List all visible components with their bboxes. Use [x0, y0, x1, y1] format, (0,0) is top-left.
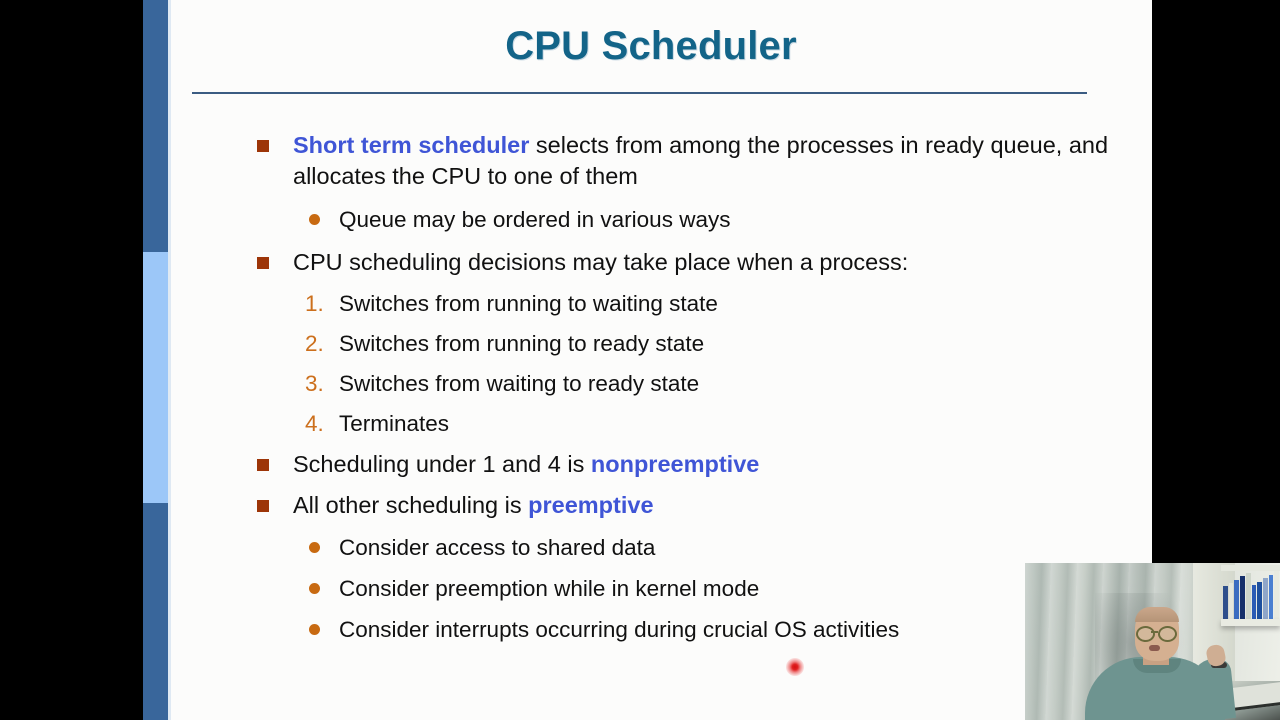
subbullet-kernel-mode: Consider preemption while in kernel mode: [143, 574, 1152, 603]
bullet-body-text: All other scheduling is: [293, 492, 528, 518]
webcam-book: [1240, 576, 1245, 619]
bullet-preemptive: All other scheduling is preemptive: [143, 490, 1152, 521]
subbullet-text: Consider interrupts occurring during cru…: [339, 617, 899, 642]
presenter-video-feed[interactable]: [1025, 563, 1280, 720]
list-number: 1.: [305, 289, 331, 318]
webcam-book: [1269, 575, 1274, 619]
square-bullet-icon: [257, 459, 269, 471]
webcam-glasses-bridge: [1151, 631, 1158, 633]
letterbox-bar-left: [0, 0, 143, 720]
video-player-frame: CPU Scheduler Short term scheduler selec…: [0, 0, 1280, 720]
webcam-presenter-hair: [1135, 607, 1179, 622]
list-number: 4.: [305, 409, 331, 438]
webcam-book: [1223, 586, 1228, 619]
round-bullet-icon: [309, 583, 320, 594]
round-bullet-icon: [309, 542, 320, 553]
webcam-shelf-lower: [1221, 619, 1280, 626]
round-bullet-icon: [309, 214, 320, 225]
subbullet-shared-data: Consider access to shared data: [143, 533, 1152, 562]
square-bullet-icon: [257, 257, 269, 269]
webcam-book: [1229, 583, 1234, 619]
webcam-book: [1274, 571, 1279, 619]
webcam-book: [1246, 573, 1251, 619]
bullet-nonpreemptive: Scheduling under 1 and 4 is nonpreemptiv…: [143, 449, 1152, 480]
slide-title: CPU Scheduler: [171, 24, 1131, 69]
round-bullet-icon: [309, 624, 320, 635]
numbered-item-1: 1.Switches from running to waiting state: [143, 289, 1152, 318]
bullet-scheduling-decisions: CPU scheduling decisions may take place …: [143, 247, 1152, 278]
list-number: 2.: [305, 329, 331, 358]
numbered-item-2: 2.Switches from running to ready state: [143, 329, 1152, 358]
bullet-short-term-scheduler: Short term scheduler selects from among …: [143, 130, 1152, 191]
slide-content: Short term scheduler selects from among …: [143, 130, 1152, 650]
bullet-highlight-text: nonpreemptive: [591, 451, 759, 477]
subbullet-text: Queue may be ordered in various ways: [339, 207, 730, 232]
bullet-highlight-text: Short term scheduler: [293, 132, 529, 158]
webcam-book: [1252, 585, 1257, 619]
numbered-item-text: Switches from running to ready state: [339, 331, 704, 356]
webcam-glasses-left-lens: [1136, 626, 1155, 642]
webcam-book: [1234, 580, 1239, 619]
numbered-item-text: Switches from running to waiting state: [339, 291, 718, 316]
numbered-item-4: 4.Terminates: [143, 409, 1152, 438]
presentation-slide: CPU Scheduler Short term scheduler selec…: [143, 0, 1152, 720]
numbered-item-text: Switches from waiting to ready state: [339, 371, 699, 396]
subbullet-text: Consider access to shared data: [339, 535, 655, 560]
bullet-body-text: Scheduling under 1 and 4 is: [293, 451, 591, 477]
bullet-body-text: CPU scheduling decisions may take place …: [293, 249, 908, 275]
numbered-item-text: Terminates: [339, 411, 449, 436]
webcam-glasses-right-lens: [1158, 626, 1177, 642]
webcam-books: [1223, 571, 1279, 619]
list-number: 3.: [305, 369, 331, 398]
numbered-item-3: 3.Switches from waiting to ready state: [143, 369, 1152, 398]
square-bullet-icon: [257, 140, 269, 152]
webcam-presenter-mouth: [1149, 645, 1160, 651]
webcam-book: [1263, 578, 1268, 619]
title-divider-rule: [192, 92, 1087, 94]
subbullet-text: Consider preemption while in kernel mode: [339, 576, 759, 601]
bullet-highlight-text: preemptive: [528, 492, 653, 518]
subbullet-interrupts: Consider interrupts occurring during cru…: [143, 615, 1152, 644]
subbullet-queue-ordering: Queue may be ordered in various ways: [143, 205, 1152, 234]
square-bullet-icon: [257, 500, 269, 512]
webcam-book: [1257, 582, 1262, 619]
laser-pointer-cursor: [786, 658, 804, 676]
